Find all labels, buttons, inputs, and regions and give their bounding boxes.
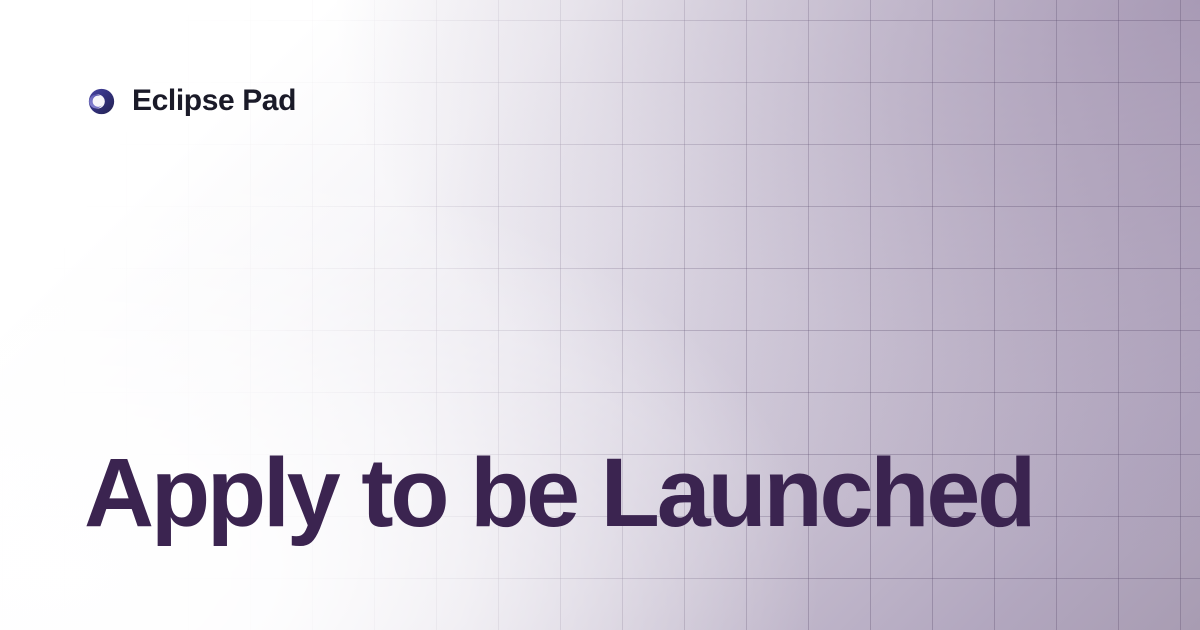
- brand-lockup: Eclipse Pad: [88, 86, 296, 116]
- brand-name: Eclipse Pad: [132, 86, 296, 116]
- page-title: Apply to be Launched: [84, 443, 1033, 544]
- eclipse-crescent-icon: [88, 88, 115, 115]
- social-card: Eclipse Pad Apply to be Launched: [0, 0, 1200, 630]
